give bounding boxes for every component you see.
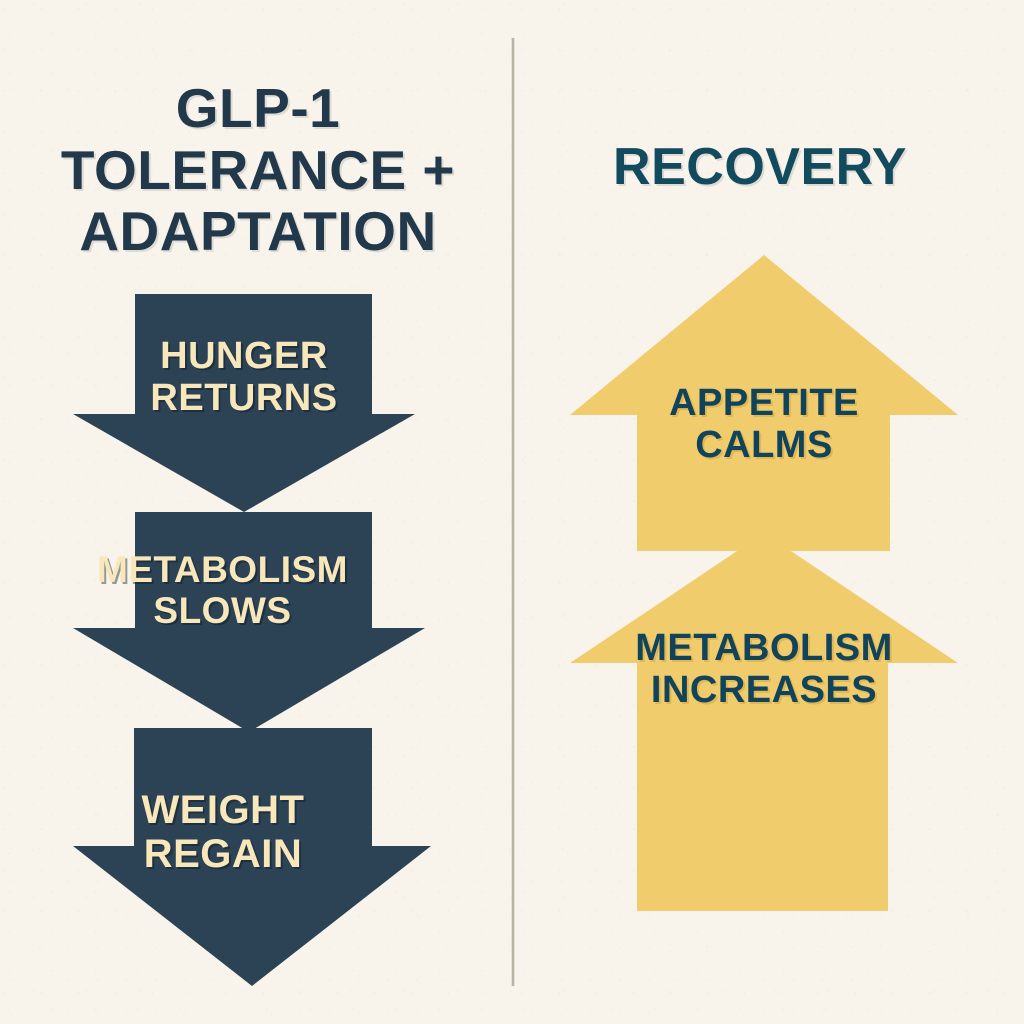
- arrow-shaft: [637, 658, 888, 911]
- right-column-title: RECOVERY: [530, 138, 990, 196]
- left-column-title: GLP-1 TOLERANCE + ADAPTATION: [28, 78, 488, 263]
- title-line: GLP-1: [28, 78, 488, 140]
- title-line: RECOVERY: [530, 138, 990, 196]
- arrow-head: [570, 255, 958, 415]
- arrow-shaft: [637, 410, 890, 551]
- arrow-head: [73, 628, 425, 732]
- arrow-head: [73, 414, 415, 512]
- up-arrow-appetite-calms: APPETITE CALMS: [570, 255, 958, 551]
- arrow-head: [73, 846, 431, 986]
- down-arrow-hunger-returns: HUNGER RETURNS: [73, 294, 415, 512]
- arrow-shaft: [135, 294, 372, 416]
- arrow-shaft: [134, 728, 372, 848]
- arrow-head: [570, 533, 958, 663]
- down-arrow-weight-regain: WEIGHT REGAIN: [73, 728, 431, 986]
- arrow-shaft: [135, 512, 372, 630]
- infographic-canvas: GLP-1 TOLERANCE + ADAPTATION HUNGER RETU…: [0, 0, 1024, 1024]
- up-arrow-metabolism-increases: METABOLISM INCREASES: [570, 533, 958, 911]
- down-arrow-metabolism-slows: METABOLISM SLOWS: [73, 512, 425, 732]
- title-line: TOLERANCE +: [28, 140, 488, 202]
- title-line: ADAPTATION: [28, 201, 488, 263]
- column-divider: [511, 38, 515, 986]
